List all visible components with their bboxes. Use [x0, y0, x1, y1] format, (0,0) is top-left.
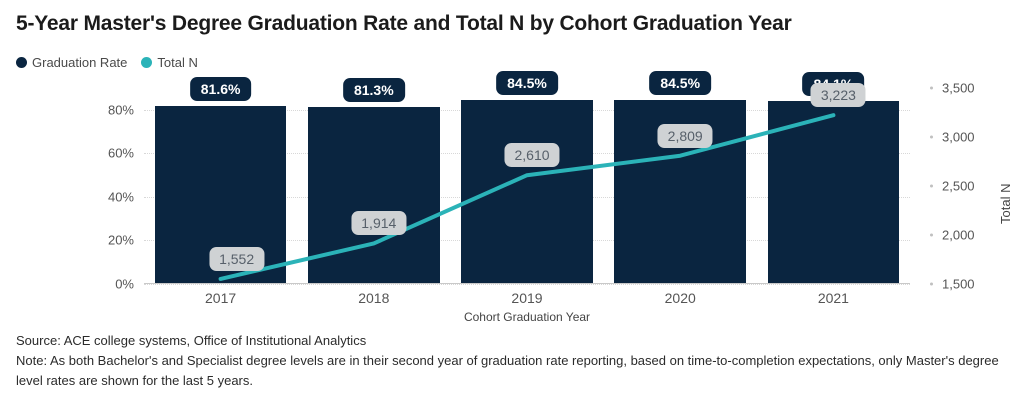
- legend-label-graduation-rate: Graduation Rate: [32, 55, 127, 70]
- x-axis-tick-label: 2018: [297, 290, 450, 306]
- y-axis-left-tick-label: 0%: [115, 277, 134, 292]
- y-axis-left-ticks: 0%20%40%60%80%: [88, 88, 134, 284]
- legend-item-total-n[interactable]: Total N: [141, 55, 197, 70]
- chart-legend: Graduation Rate Total N: [16, 55, 198, 70]
- y-axis-left-tick-label: 20%: [108, 233, 134, 248]
- y-axis-left-tick-label: 40%: [108, 189, 134, 204]
- bar-2018[interactable]: [308, 107, 440, 284]
- y-axis-right-tick-label: 3,000: [942, 130, 975, 145]
- x-axis-baseline: [144, 283, 910, 284]
- plot-area: 81.6%81.3%84.5%84.5%84.1%1,5521,9142,610…: [144, 88, 910, 284]
- bar-series-graduation-rate: [144, 88, 910, 284]
- y-axis-right-tick-label: 3,500: [942, 81, 975, 96]
- y-axis-right-tick-mark: [930, 185, 933, 188]
- gridline: [144, 284, 910, 285]
- legend-label-total-n: Total N: [157, 55, 197, 70]
- y-axis-right-tick-mark: [930, 283, 933, 286]
- y-axis-right-tick-label: 2,000: [942, 228, 975, 243]
- x-axis-tick-label: 2017: [144, 290, 297, 306]
- x-axis-ticks: 20172018201920202021: [144, 290, 910, 306]
- y-axis-right-tick-mark: [930, 234, 933, 237]
- bar-slot: [144, 88, 297, 284]
- bar-2017[interactable]: [155, 106, 287, 284]
- legend-swatch-total-n: [141, 57, 152, 68]
- bar-2021[interactable]: [768, 101, 900, 284]
- footnotes: Source: ACE college systems, Office of I…: [16, 331, 1000, 391]
- footnote-source: Source: ACE college systems, Office of I…: [16, 331, 1000, 351]
- y-axis-left-tick-label: 60%: [108, 146, 134, 161]
- y-axis-right-title: Total N: [998, 184, 1013, 224]
- x-axis-title: Cohort Graduation Year: [144, 310, 910, 324]
- bar-slot: [297, 88, 450, 284]
- bar-2019[interactable]: [461, 100, 593, 284]
- x-axis-tick-label: 2021: [757, 290, 910, 306]
- footnote-note: Note: As both Bachelor's and Specialist …: [16, 351, 1000, 391]
- chart-title: 5-Year Master's Degree Graduation Rate a…: [16, 12, 792, 36]
- y-axis-left-tick-label: 80%: [108, 102, 134, 117]
- y-axis-right-tick-mark: [930, 136, 933, 139]
- y-axis-right-tick-mark: [930, 87, 933, 90]
- legend-item-graduation-rate[interactable]: Graduation Rate: [16, 55, 127, 70]
- x-axis-tick-label: 2020: [604, 290, 757, 306]
- bar-2020[interactable]: [614, 100, 746, 284]
- bar-slot: [604, 88, 757, 284]
- legend-swatch-graduation-rate: [16, 57, 27, 68]
- bar-slot: [757, 88, 910, 284]
- y-axis-right-tick-label: 1,500: [942, 277, 975, 292]
- x-axis-tick-label: 2019: [450, 290, 603, 306]
- y-axis-right-ticks: 1,5002,0002,5003,0003,500: [928, 88, 988, 284]
- y-axis-right-tick-label: 2,500: [942, 179, 975, 194]
- bar-slot: [450, 88, 603, 284]
